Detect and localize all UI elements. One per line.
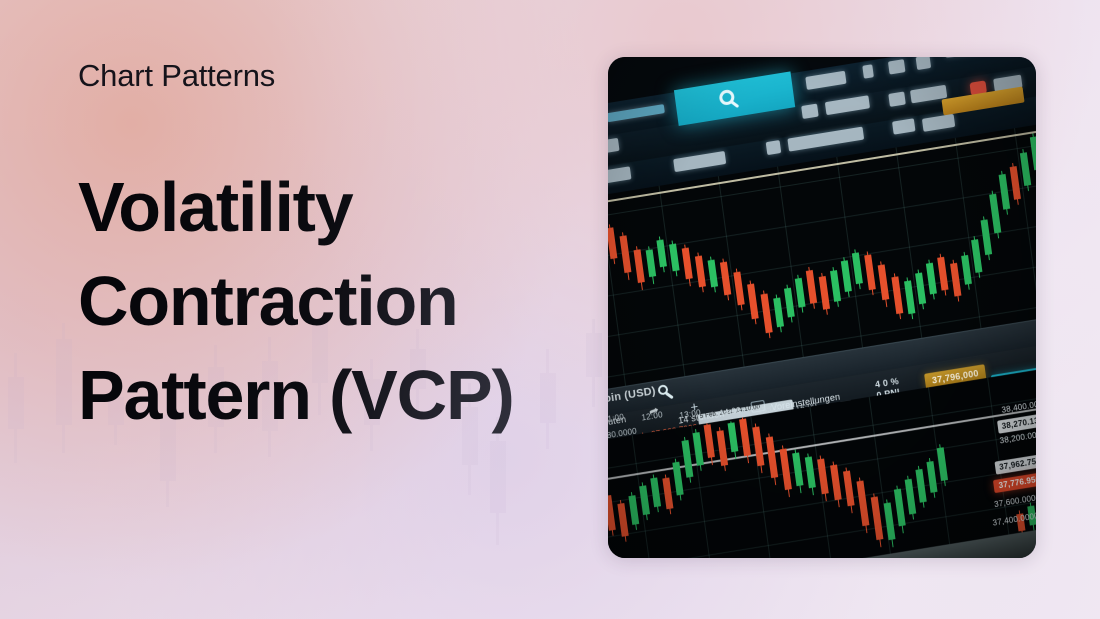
toolbar-chip [888,92,906,107]
toolbar-chip [862,64,874,78]
headline-line-2: Contraction [78,254,598,348]
toolbar-chip [801,104,819,119]
page-title: Volatility Contraction Pattern (VCP) [78,160,598,442]
trading-terminal-photo: Bitcoin (USD) + 10 minuten 14 stunden Vo… [608,57,1036,558]
screen-content: Bitcoin (USD) + 10 minuten 14 stunden Vo… [608,57,1036,558]
toolbar-chip [888,59,906,74]
ticker-search-icon[interactable] [657,384,668,396]
headline-line-1: Volatility [78,160,598,254]
slide-canvas: Chart Patterns Volatility Contraction Pa… [0,0,1100,619]
toolbar-chip [916,57,932,70]
toolbar-chip [766,140,782,155]
eyebrow-label: Chart Patterns [78,58,275,94]
headline-line-3: Pattern (VCP) [78,348,598,442]
